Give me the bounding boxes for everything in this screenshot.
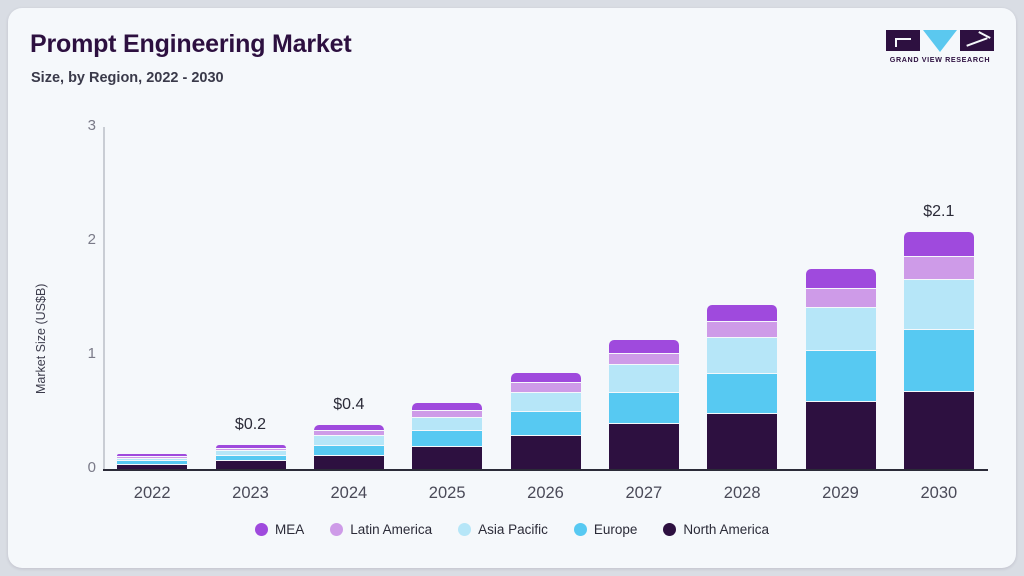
bar-segment[interactable]: [707, 321, 777, 337]
bar-stack-2024[interactable]: [314, 425, 384, 469]
x-tick-label: 2030: [894, 484, 984, 503]
legend-swatch-icon: [574, 523, 587, 536]
legend-swatch-icon: [663, 523, 676, 536]
legend-item[interactable]: North America: [663, 522, 769, 537]
bar-segment[interactable]: [511, 382, 581, 391]
bar-segment[interactable]: [806, 288, 876, 306]
legend-swatch-icon: [330, 523, 343, 536]
bar-segment[interactable]: [904, 232, 974, 256]
bar-value-label: $0.4: [304, 396, 394, 414]
bar-stack-2025[interactable]: [412, 403, 482, 469]
page-title: Prompt Engineering Market: [30, 30, 351, 59]
bar-stack-2023[interactable]: [216, 445, 286, 469]
chart-card: Prompt Engineering Market Size, by Regio…: [8, 8, 1016, 568]
logo-r-icon: [960, 30, 994, 51]
bar-stack-2029[interactable]: [806, 269, 876, 469]
bar-segment[interactable]: [511, 411, 581, 435]
bar-stack-2026[interactable]: [511, 373, 581, 469]
bar-segment[interactable]: [707, 373, 777, 413]
bar-segment[interactable]: [609, 392, 679, 424]
bar-segment[interactable]: [707, 413, 777, 469]
y-tick-label: 2: [66, 231, 96, 248]
bars-container: $0.2$0.4$2.1: [103, 127, 988, 469]
bar-segment[interactable]: [707, 337, 777, 372]
bar-segment[interactable]: [806, 401, 876, 469]
legend-label: Europe: [594, 522, 638, 537]
bar-segment[interactable]: [609, 423, 679, 469]
x-tick-label: 2025: [402, 484, 492, 503]
legend-item[interactable]: Asia Pacific: [458, 522, 548, 537]
bar-segment[interactable]: [609, 364, 679, 391]
bar-segment[interactable]: [806, 269, 876, 288]
bar-segment[interactable]: [412, 417, 482, 431]
x-tick-label: 2024: [304, 484, 394, 503]
bar-segment[interactable]: [904, 279, 974, 329]
bar-value-label: $2.1: [894, 203, 984, 221]
bar-segment[interactable]: [904, 329, 974, 391]
bar-segment[interactable]: [412, 410, 482, 417]
logo-v-icon: [923, 30, 957, 52]
x-tick-label: 2022: [107, 484, 197, 503]
bar-segment[interactable]: [904, 256, 974, 278]
bar-segment[interactable]: [707, 305, 777, 321]
bar-segment[interactable]: [412, 430, 482, 446]
bar-segment[interactable]: [412, 403, 482, 410]
legend-item[interactable]: Latin America: [330, 522, 432, 537]
legend-swatch-icon: [255, 523, 268, 536]
legend-label: MEA: [275, 522, 304, 537]
y-tick-label: 0: [66, 459, 96, 476]
bar-stack-2022[interactable]: [117, 454, 187, 469]
logo-wordmark: GRAND VIEW RESEARCH: [886, 55, 994, 64]
x-tick-label: 2027: [599, 484, 689, 503]
y-tick-label: 1: [66, 345, 96, 362]
chart-plot: Market Size (US$B) 0123 $0.2$0.4$2.1 202…: [8, 104, 1016, 568]
bar-segment[interactable]: [314, 435, 384, 444]
legend-label: Latin America: [350, 522, 432, 537]
chart-header: Prompt Engineering Market Size, by Regio…: [8, 8, 1016, 104]
bar-stack-2027[interactable]: [609, 340, 679, 469]
bar-segment[interactable]: [511, 435, 581, 469]
y-tick-label: 3: [66, 117, 96, 134]
bar-segment[interactable]: [117, 464, 187, 469]
x-tick-label: 2029: [796, 484, 886, 503]
bar-segment[interactable]: [511, 392, 581, 411]
x-tick-label: 2023: [206, 484, 296, 503]
legend-item[interactable]: MEA: [255, 522, 304, 537]
y-axis-label: Market Size (US$B): [34, 284, 48, 394]
x-tick-label: 2028: [697, 484, 787, 503]
bar-stack-2028[interactable]: [707, 305, 777, 469]
bar-segment[interactable]: [314, 455, 384, 469]
x-tick-label: 2026: [501, 484, 591, 503]
legend-item[interactable]: Europe: [574, 522, 638, 537]
grand-view-research-logo: GRAND VIEW RESEARCH: [886, 30, 994, 66]
bar-segment[interactable]: [511, 373, 581, 383]
bar-value-label: $0.2: [206, 416, 296, 434]
chart-legend: MEALatin AmericaAsia PacificEuropeNorth …: [8, 522, 1016, 537]
logo-g-icon: [886, 30, 920, 51]
bar-segment[interactable]: [609, 353, 679, 364]
legend-swatch-icon: [458, 523, 471, 536]
legend-label: North America: [683, 522, 769, 537]
bar-segment[interactable]: [314, 445, 384, 455]
bar-segment[interactable]: [806, 307, 876, 350]
legend-label: Asia Pacific: [478, 522, 548, 537]
bar-segment[interactable]: [904, 391, 974, 469]
bar-segment[interactable]: [412, 446, 482, 469]
bar-segment[interactable]: [609, 340, 679, 353]
logo-marks: [886, 30, 994, 52]
bar-segment[interactable]: [216, 460, 286, 469]
bar-stack-2030[interactable]: [904, 232, 974, 469]
bar-segment[interactable]: [806, 350, 876, 401]
page-subtitle: Size, by Region, 2022 - 2030: [31, 70, 224, 86]
